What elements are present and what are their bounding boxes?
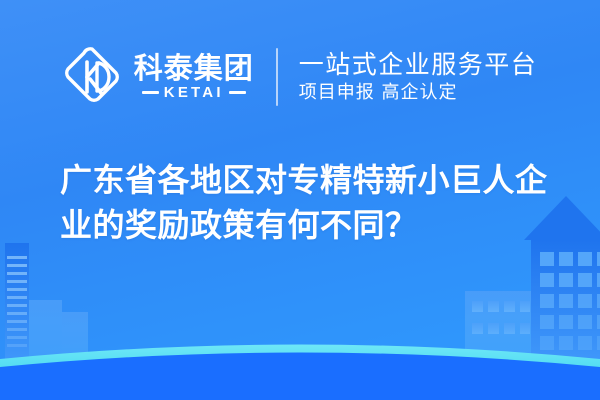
- tagline-block: 一站式企业服务平台 项目申报 高企认定: [299, 51, 538, 103]
- logo-company-cn: 科泰集团: [134, 54, 254, 83]
- promo-banner: 科泰集团 KETAI 一站式企业服务平台 项目申报 高企认定 广东省各地区对专精…: [0, 0, 600, 400]
- headline-block: 广东省各地区对专精特新小巨人企业的奖励政策有何不同？: [60, 158, 570, 249]
- logo-wordmark: 科泰集团 KETAI: [134, 54, 254, 100]
- ground-fill: [0, 353, 600, 400]
- brand-lockup[interactable]: 科泰集团 KETAI: [63, 46, 254, 108]
- logo-en-row: KETAI: [142, 85, 246, 100]
- ground-arc: [0, 345, 600, 400]
- left-midrise-building: [26, 300, 62, 360]
- ketai-logo-icon: [63, 46, 121, 108]
- left-tower-building: [5, 243, 29, 360]
- brand-header: 科泰集团 KETAI 一站式企业服务平台 项目申报 高企认定: [0, 34, 600, 120]
- logo-dash-left-icon: [142, 91, 159, 95]
- page-title: 广东省各地区对专精特新小巨人企业的奖励政策有何不同？: [60, 158, 570, 249]
- logo-company-en: KETAI: [164, 85, 224, 100]
- tagline-main: 一站式企业服务平台: [299, 51, 538, 78]
- logo-dash-right-icon: [229, 91, 246, 95]
- header-divider: [276, 48, 278, 106]
- tagline-sub: 项目申报 高企认定: [299, 83, 538, 103]
